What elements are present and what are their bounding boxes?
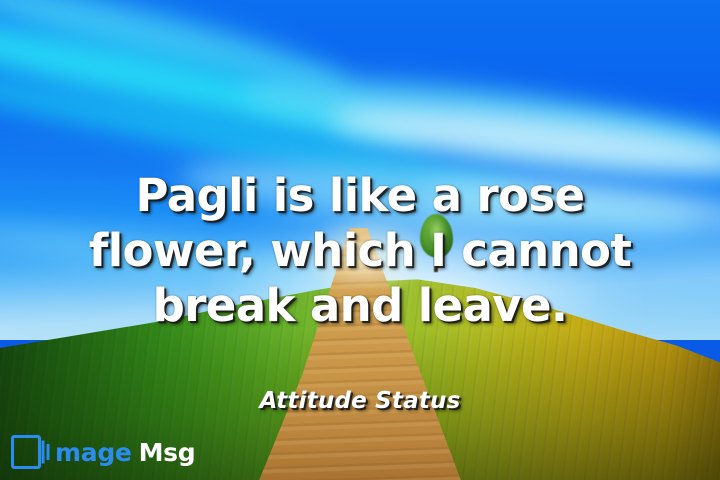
quote-image-canvas: Pagli is like a rose flower, which I can…	[0, 0, 720, 480]
watermark-brand-second: Msg	[139, 440, 196, 465]
watermark-logo[interactable]: mage Msg	[10, 432, 195, 472]
watermark-brand-first: mage	[55, 440, 132, 465]
quote-text: Pagli is like a rose flower, which I can…	[0, 168, 720, 333]
stacked-photo-frames-icon	[10, 433, 54, 471]
attribution-text: Attitude Status	[0, 388, 720, 414]
